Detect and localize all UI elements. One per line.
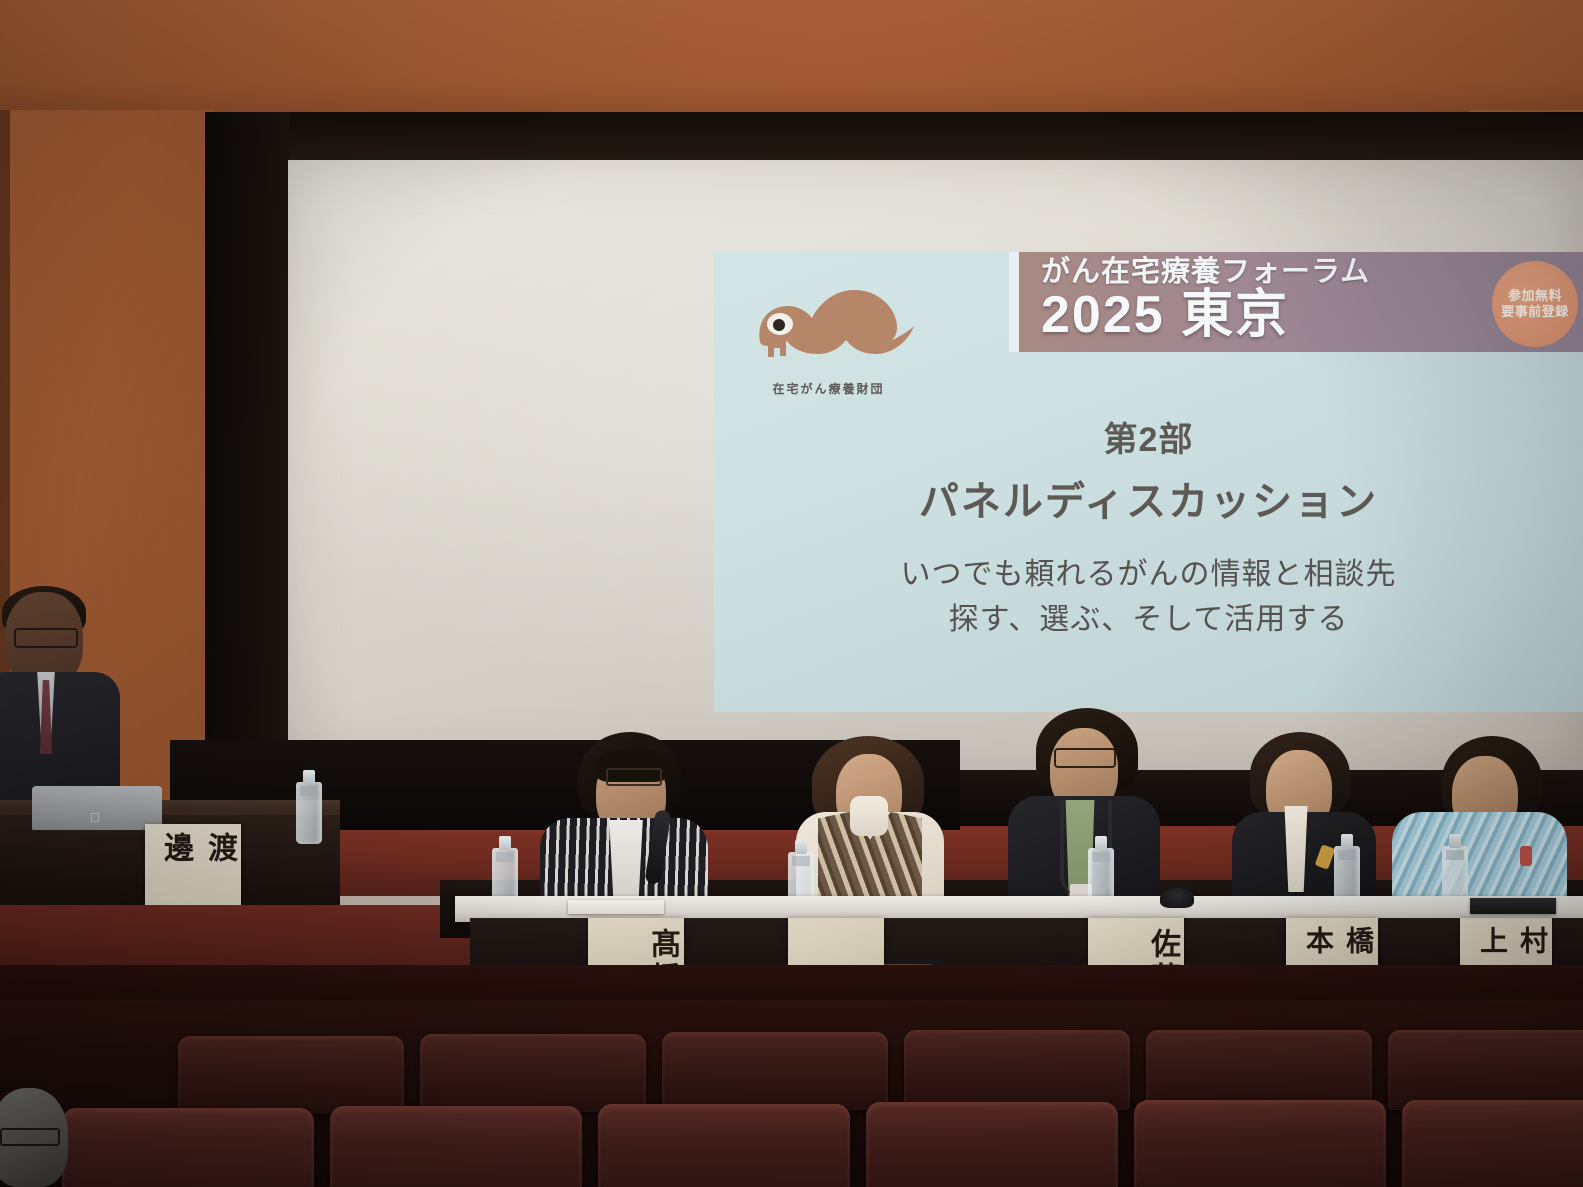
auditorium-seat[interactable] xyxy=(1146,1030,1372,1110)
badge-line1: 参加無料 xyxy=(1508,288,1562,304)
auditorium-seat[interactable] xyxy=(62,1108,314,1187)
auditorium-seat[interactable] xyxy=(662,1032,888,1110)
auditorium-seat[interactable] xyxy=(178,1036,404,1114)
glasses-icon xyxy=(1054,748,1116,768)
notebook-on-table xyxy=(1470,898,1556,914)
slide-subtitle-line1: いつでも頼れるがんの情報と相談先 xyxy=(714,552,1583,597)
slide-part-label: 第2部 xyxy=(714,412,1583,461)
free-admission-badge: 参加無料 要事前登録 xyxy=(1492,261,1578,347)
otter-mascot-icon xyxy=(736,264,921,384)
glasses-icon xyxy=(0,1128,60,1146)
auditorium-seat[interactable] xyxy=(866,1102,1118,1187)
presentation-slide: 在宅がん療養財団 がん在宅療養フォーラム 2025 東京 参加無料 要事前登録 … xyxy=(714,252,1583,712)
slide-subtitle-line2: 探す、選ぶ、そして活用する xyxy=(714,597,1583,642)
badge-line2: 要事前登録 xyxy=(1501,304,1569,320)
glasses-icon xyxy=(14,628,78,648)
glasses-icon xyxy=(606,768,662,786)
slide-banner: がん在宅療養フォーラム 2025 東京 参加無料 要事前登録 xyxy=(1019,252,1583,352)
papers-on-table xyxy=(568,900,664,914)
desktop-microphone[interactable] xyxy=(1160,888,1194,908)
wall-wood-top xyxy=(0,0,1583,118)
water-bottle[interactable] xyxy=(296,782,322,844)
screen-frame-left xyxy=(205,112,290,812)
auditorium-seat[interactable] xyxy=(904,1030,1130,1110)
slide-main-title: パネルディスカッション xyxy=(714,469,1583,527)
banner-title-line1: がん在宅療養フォーラム xyxy=(1041,258,1370,287)
auditorium-seat[interactable] xyxy=(1388,1030,1583,1110)
panelist-2-turtleneck xyxy=(850,796,888,836)
slide-subtitle-block: いつでも頼れるがんの情報と相談先 探す、選ぶ、そして活用する xyxy=(714,552,1583,642)
auditorium-seat[interactable] xyxy=(330,1106,582,1187)
screen-frame-top xyxy=(205,112,1583,164)
auditorium-seat[interactable] xyxy=(598,1104,850,1187)
auditorium-seat[interactable] xyxy=(1402,1100,1583,1187)
banner-title-line2: 2025 東京 xyxy=(1041,289,1370,341)
slide-logo-caption: 在宅がん療養財団 xyxy=(736,380,921,397)
auditorium-seat[interactable] xyxy=(1134,1100,1386,1187)
lapel-pin-icon xyxy=(1520,846,1532,866)
slide-title-block: 第2部 パネルディスカッション xyxy=(714,412,1583,527)
auditorium-seat[interactable] xyxy=(420,1034,646,1112)
conference-hall-photo: 在宅がん療養財団 がん在宅療養フォーラム 2025 東京 参加無料 要事前登録 … xyxy=(0,0,1583,1187)
apple-logo-icon:  xyxy=(90,810,102,824)
